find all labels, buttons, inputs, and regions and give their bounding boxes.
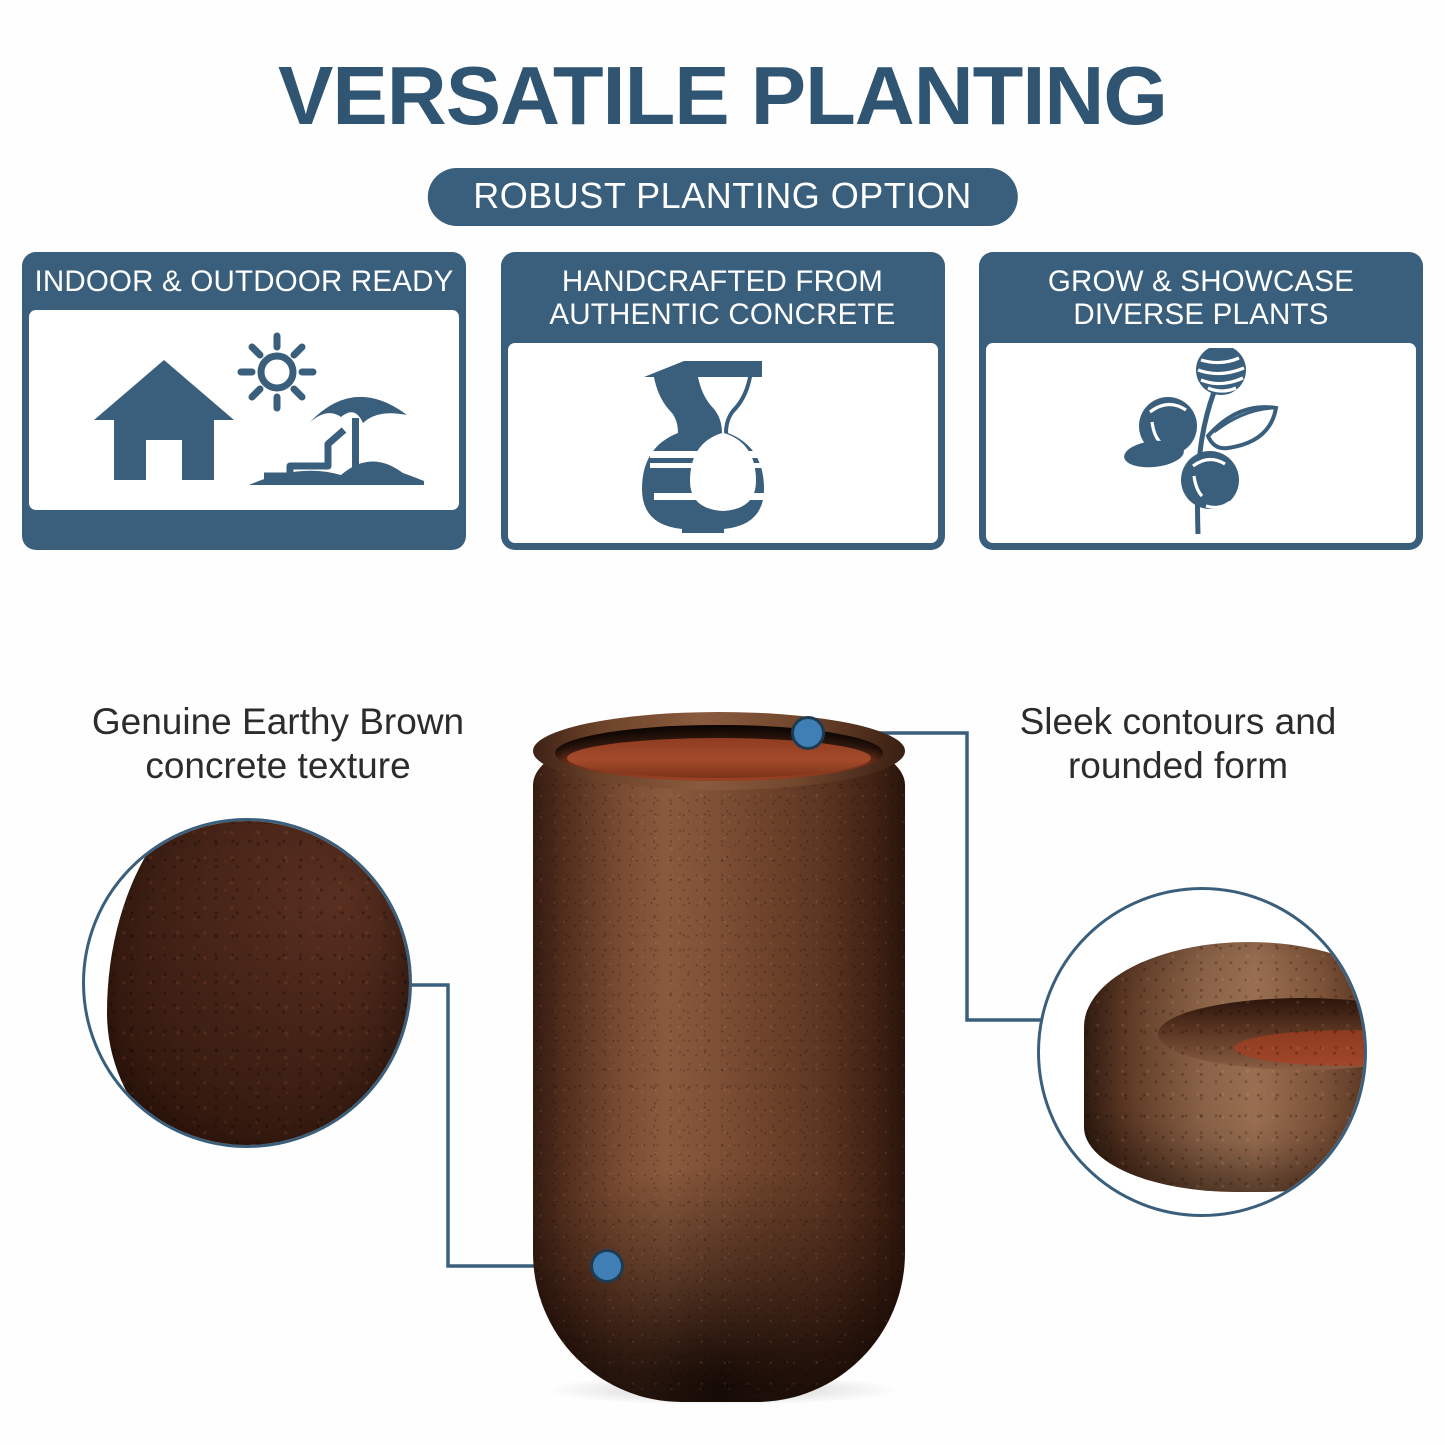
planter-interior-surface: [567, 738, 871, 778]
planter-body: [533, 724, 905, 1402]
rim-closeup-art: [1084, 942, 1367, 1192]
detail-inset-texture: [82, 818, 412, 1148]
texture-closeup-art: [107, 818, 412, 1148]
planter-texture-overlay: [533, 724, 905, 1402]
callout-marker-texture[interactable]: [590, 1249, 624, 1283]
rim-closeup-lip: [1158, 998, 1367, 1070]
planter-product-image: [533, 712, 905, 1402]
callout-marker-contour[interactable]: [791, 716, 825, 750]
detail-inset-rim: [1037, 887, 1367, 1217]
product-diagram: [0, 0, 1445, 1445]
rim-closeup-interior: [1234, 1030, 1367, 1066]
